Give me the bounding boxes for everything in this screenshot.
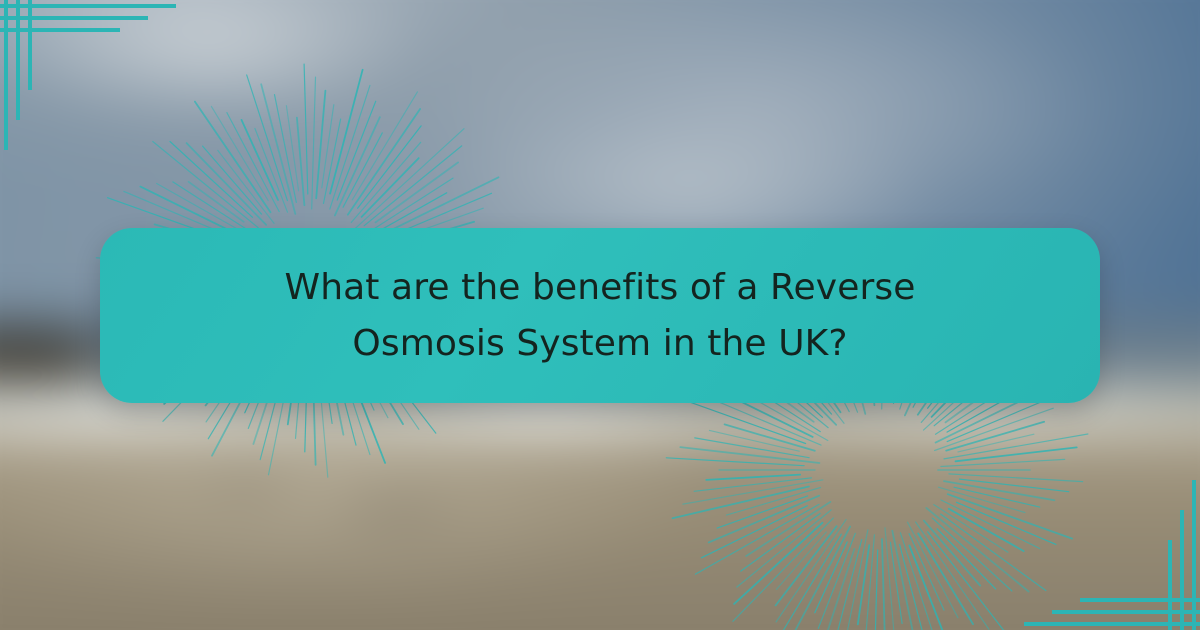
pebble-shape [190, 473, 310, 499]
pebble-shape [320, 495, 470, 525]
question-text: What are the benefits of a Reverse Osmos… [220, 260, 980, 372]
sand-region [0, 435, 1200, 630]
pebble-shape [640, 450, 820, 474]
social-card-canvas: What are the benefits of a Reverse Osmos… [0, 0, 1200, 630]
question-card: What are the benefits of a Reverse Osmos… [100, 228, 1100, 403]
